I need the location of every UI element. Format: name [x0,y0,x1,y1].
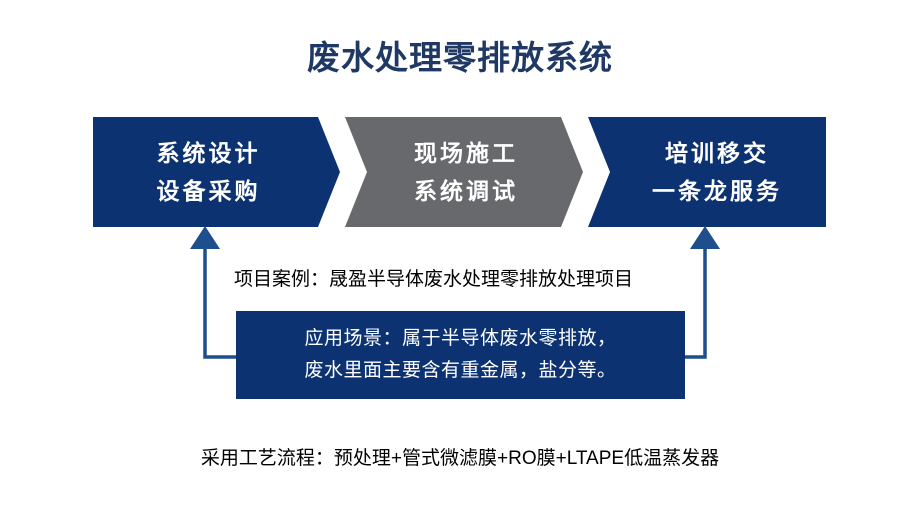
process-step-2-line2: 系统调试 [414,172,518,210]
right-connector-line [685,243,705,357]
process-step-3[interactable]: 培训移交 一条龙服务 [588,117,826,227]
process-step-2-label: 现场施工 系统调试 [414,134,518,210]
process-step-1-line1: 系统设计 [157,140,261,166]
case-caption: 项目案例：晟盈半导体废水处理零排放处理项目 [234,265,633,295]
scenario-line2: 废水里面主要含有重金属，盐分等。 [304,355,616,387]
left-connector-arrow [190,226,236,357]
process-step-2[interactable]: 现场施工 系统调试 [345,117,583,227]
left-connector-line [205,243,236,357]
right-connector-arrow [685,226,720,357]
process-step-3-line2: 一条龙服务 [652,172,782,210]
right-arrowhead-icon [690,226,720,249]
scenario-line1: 应用场景：属于半导体废水零排放， [304,323,616,355]
slide-canvas: 废水处理零排放系统 系统设计 设备采购 现场施工 系统调试 培训移交 一条龙服务 [0,0,920,506]
scenario-box[interactable]: 应用场景：属于半导体废水零排放， 废水里面主要含有重金属，盐分等。 [236,311,685,399]
process-flow-caption: 采用工艺流程：预处理+管式微滤膜+RO膜+LTAPE低温蒸发器 [0,444,920,474]
process-step-3-line1: 培训移交 [665,140,769,166]
process-step-1-label: 系统设计 设备采购 [157,134,261,210]
process-step-3-label: 培训移交 一条龙服务 [652,134,782,210]
page-title: 废水处理零排放系统 [0,36,920,80]
process-step-1[interactable]: 系统设计 设备采购 [93,117,340,227]
left-arrowhead-icon [190,226,220,249]
process-step-2-line1: 现场施工 [414,140,518,166]
process-step-1-line2: 设备采购 [157,172,261,210]
